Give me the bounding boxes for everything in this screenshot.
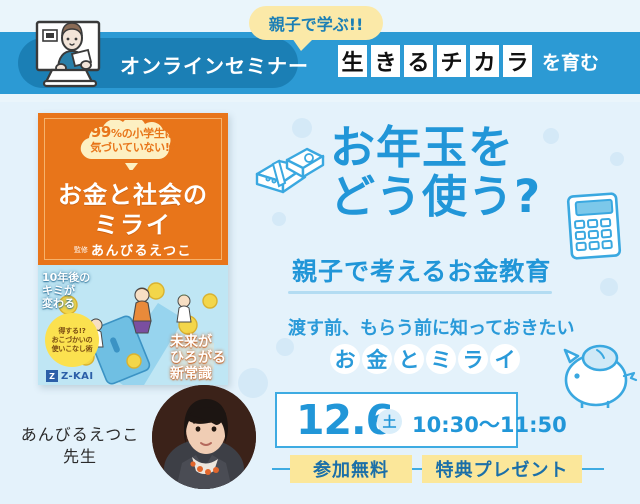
book-illustration: 10年後のキミが変わる 未来がひろがる新常識 得する!?おこづかいの使いこなし術…	[38, 265, 228, 385]
headline-line-2: どう使う?	[330, 172, 541, 221]
book-cloud-text: 99%の小学生は 気づいていない!?	[65, 125, 201, 155]
book-author-prefix: 監修	[74, 246, 88, 254]
instructor-name: あんびるえつこ	[21, 425, 140, 444]
kanji-box: カ	[470, 45, 499, 77]
subheadline: 親子で考えるお金教育	[292, 252, 551, 288]
decorative-bubble	[292, 118, 312, 138]
seminar-pill-label: オンラインセミナー	[120, 50, 309, 79]
book-cover: 99%の小学生は 気づいていない!? お金と社会の ミライ 監修あんびるえつこ	[38, 113, 228, 385]
decorative-bubble	[543, 128, 559, 144]
keyword-char: お	[330, 344, 360, 374]
book-cloud-line1: %の小学生は	[111, 127, 175, 140]
instructor-honorific: 先生	[63, 447, 97, 466]
decorative-bubble	[238, 368, 268, 398]
kanji-boxes-row: 生 き る チ カ ラ を育む	[338, 45, 599, 77]
book-author-name: あんびるえつこ	[91, 244, 192, 259]
badge-dash-right	[582, 468, 604, 470]
kanji-box: る	[404, 45, 433, 77]
speech-bubble-tail	[292, 38, 314, 51]
kanji-suffix-label: を育む	[542, 48, 599, 75]
decorative-bubble	[610, 152, 624, 166]
keyword-char: 金	[362, 344, 392, 374]
piggy-bank-icon	[556, 342, 640, 408]
event-time: 10:30〜11:50	[412, 409, 567, 439]
book-highlight-text: 得する!?おこづかいの使いこなし術	[52, 327, 93, 354]
book-cloud-percent: 99	[91, 123, 111, 141]
instructor-caption: あんびるえつこ 先生	[8, 424, 152, 468]
kanji-box: き	[371, 45, 400, 77]
keyword-char: と	[394, 344, 424, 374]
calculator-icon	[566, 192, 624, 260]
event-day-of-week: 土	[377, 409, 402, 434]
keyword-char: ラ	[458, 344, 488, 374]
laptop-teacher-icon	[28, 18, 114, 94]
keyword-row: お 金 と ミ ラ イ	[330, 344, 520, 374]
book-title-line2: ミライ	[38, 205, 228, 240]
publisher-logo: Z Z-KAI	[46, 370, 93, 382]
seminar-banner: オンラインセミナー 親子で学ぶ!! 生 き る チ カ ラ を育む 99%の小学…	[0, 0, 640, 504]
book-cloud-line2: 気づいていない!?	[90, 141, 175, 154]
money-bundle-icon	[253, 142, 327, 198]
kanji-box: ラ	[503, 45, 532, 77]
book-highlight-circle: 得する!?おこづかいの使いこなし術	[45, 313, 99, 367]
publisher-logo-text: Z-KAI	[61, 371, 93, 382]
decorative-bubble	[276, 338, 294, 356]
page-title: お年玉を どう使う?	[330, 123, 541, 221]
instructor-avatar	[152, 385, 256, 489]
header-bottom-strip	[0, 94, 640, 102]
status-badge-free: 参加無料	[290, 455, 412, 483]
keyword-char: イ	[490, 344, 520, 374]
decorative-bubble	[272, 212, 286, 226]
status-badge-gift: 特典プレゼント	[422, 455, 582, 483]
book-tag-right: 未来がひろがる新常識	[170, 334, 226, 382]
book-author-row: 監修あんびるえつこ	[38, 239, 228, 259]
publisher-logo-mark: Z	[46, 370, 58, 382]
book-tag-left: 10年後のキミが変わる	[42, 271, 90, 310]
speech-bubble-text: 親子で学ぶ!!	[269, 11, 364, 35]
speech-bubble: 親子で学ぶ!!	[249, 6, 383, 40]
keyword-char: ミ	[426, 344, 456, 374]
kanji-box: 生	[338, 45, 367, 77]
subheadline-rule	[288, 291, 552, 294]
badge-dash-left	[272, 468, 292, 470]
decorative-bubble	[600, 278, 618, 296]
tagline: 渡す前、もらう前に知っておきたい	[288, 314, 575, 340]
headline-line-1: お年玉を	[330, 123, 541, 172]
kanji-box: チ	[437, 45, 466, 77]
